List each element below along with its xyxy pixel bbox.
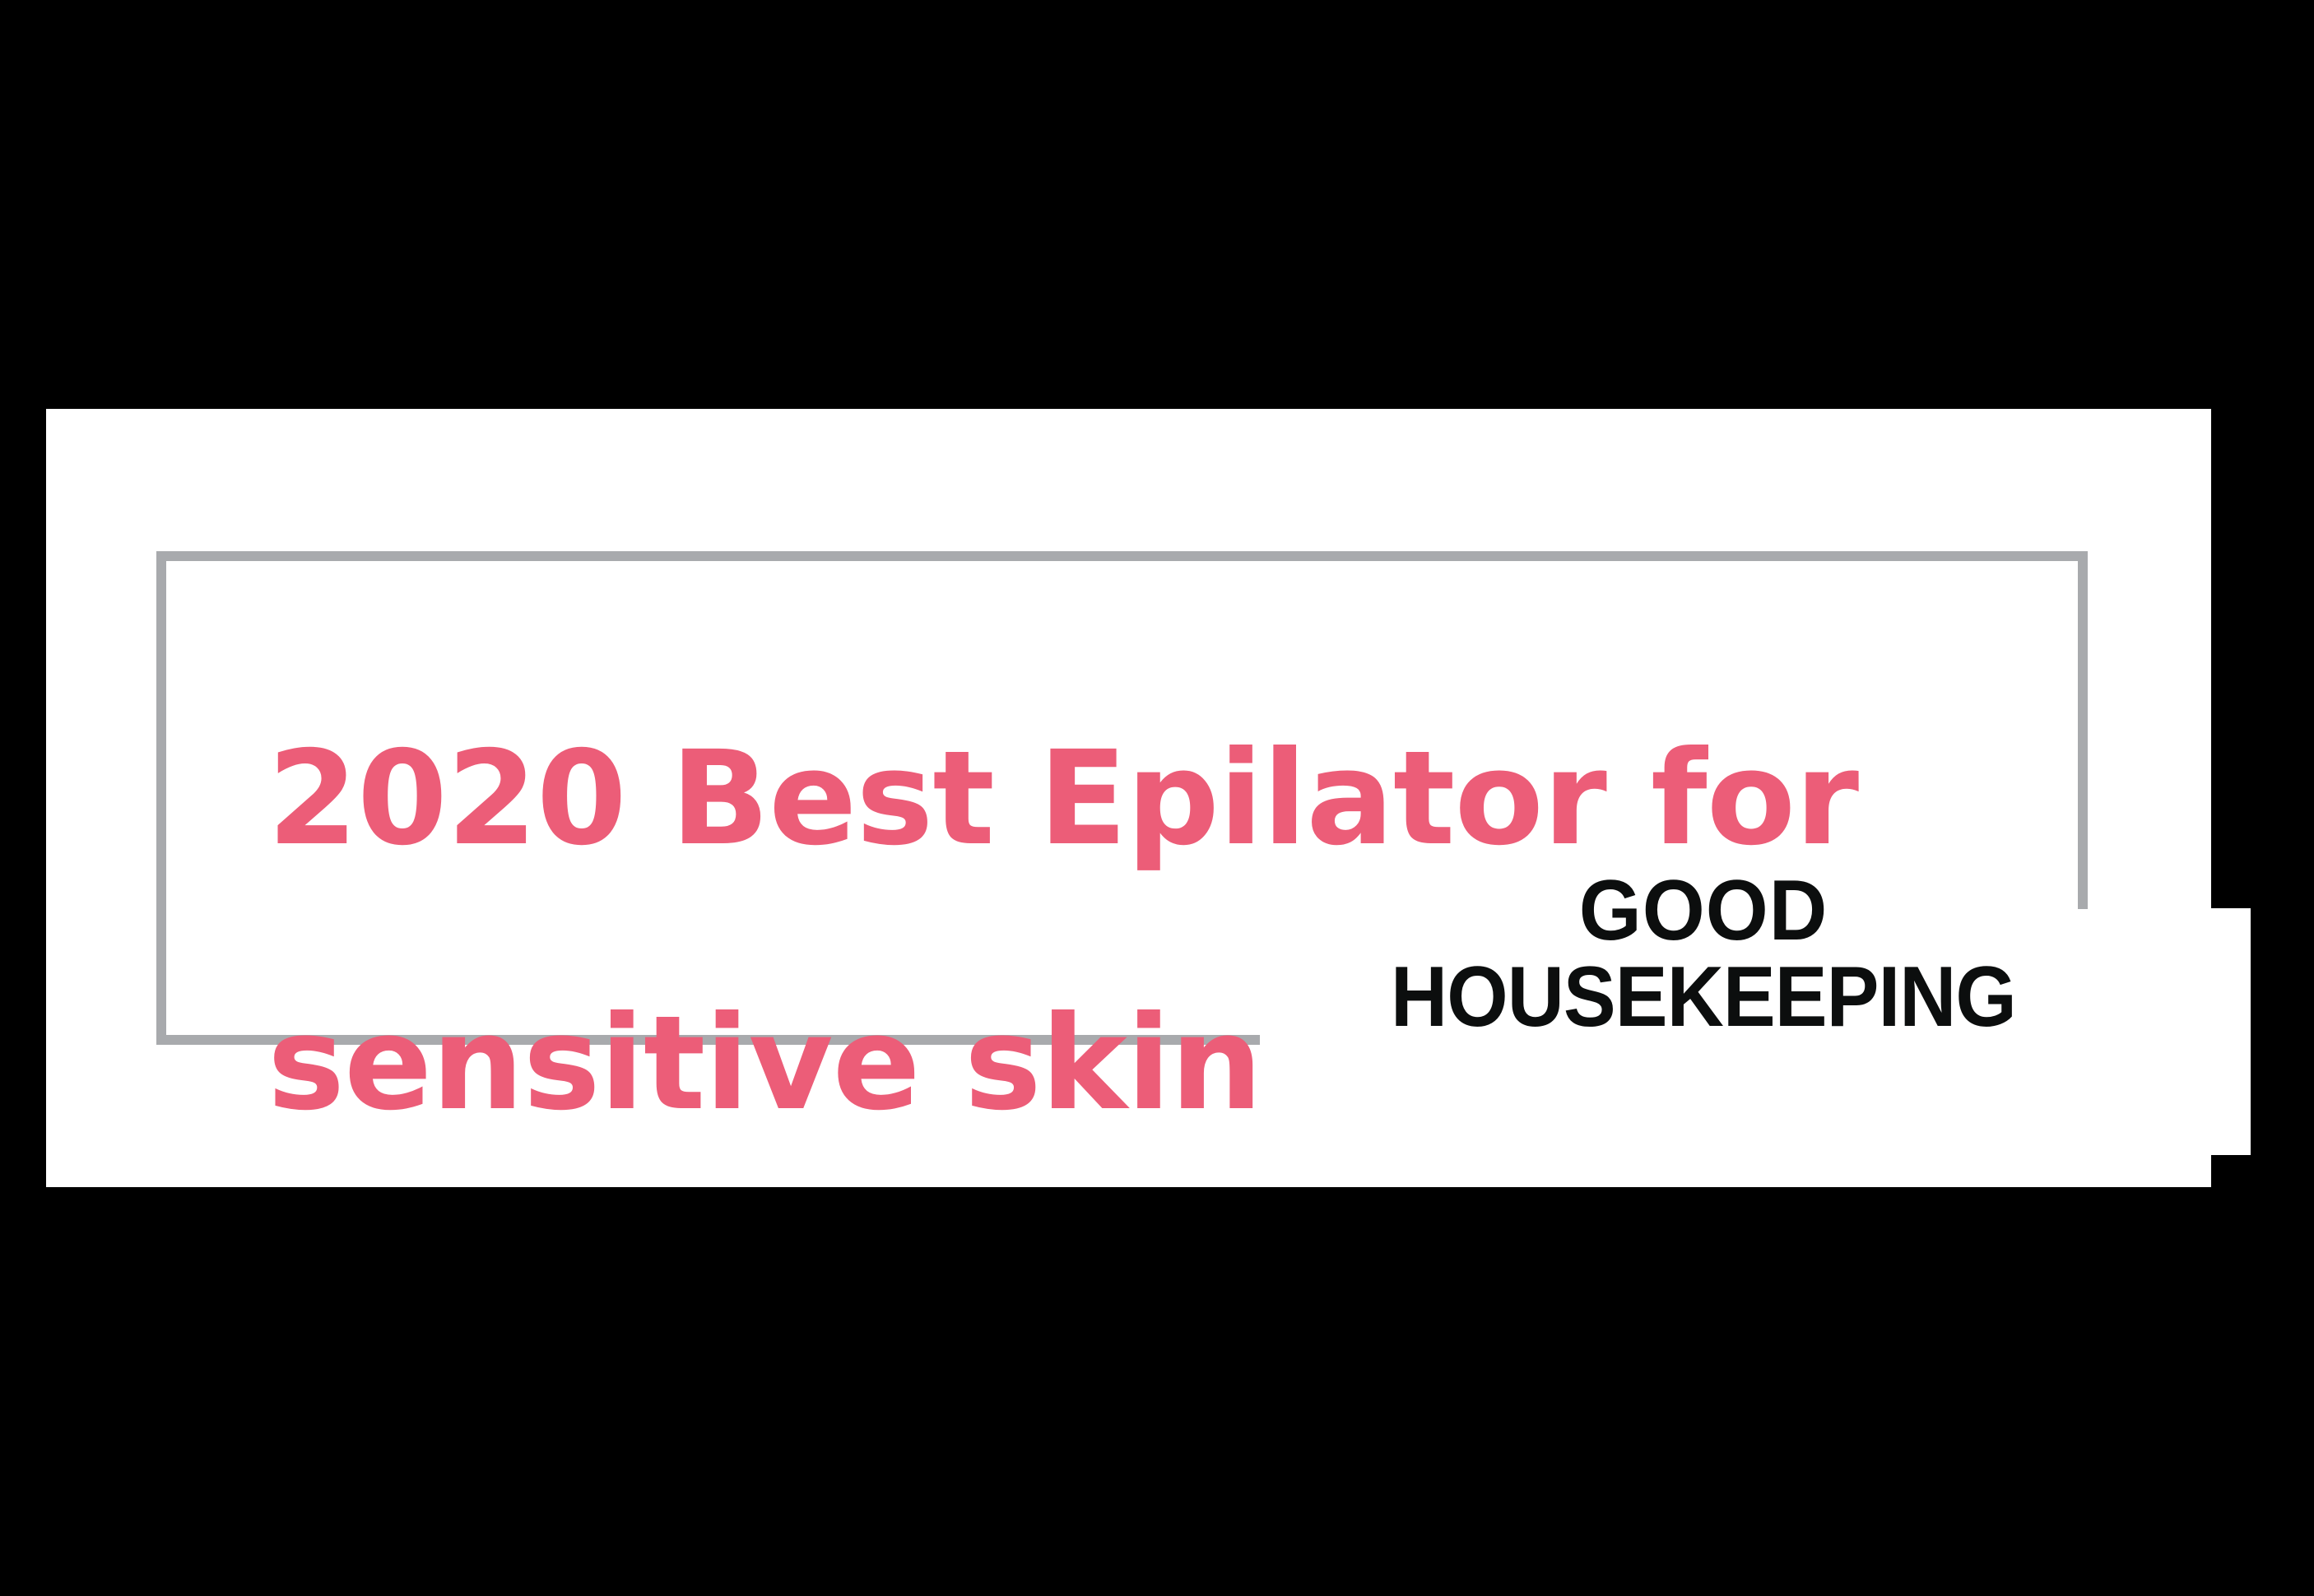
award-headline-line-1: 2020 Best Epilator for	[267, 733, 2012, 865]
good-housekeeping-logo-line-2: HOUSEKEEPING	[1348, 953, 2060, 1041]
good-housekeeping-logo-line-1: GOOD	[1340, 868, 2067, 953]
frame-top-rule	[156, 551, 2088, 561]
good-housekeeping-logo: GOOD HOUSEKEEPING	[1317, 868, 2090, 1041]
badge-card-side-tab	[2211, 908, 2251, 1155]
award-badge-stage: 2020 Best Epilator for sensitive skin GO…	[0, 0, 2314, 1596]
frame-right-rule	[2078, 551, 2088, 909]
frame-left-rule	[156, 551, 166, 1045]
